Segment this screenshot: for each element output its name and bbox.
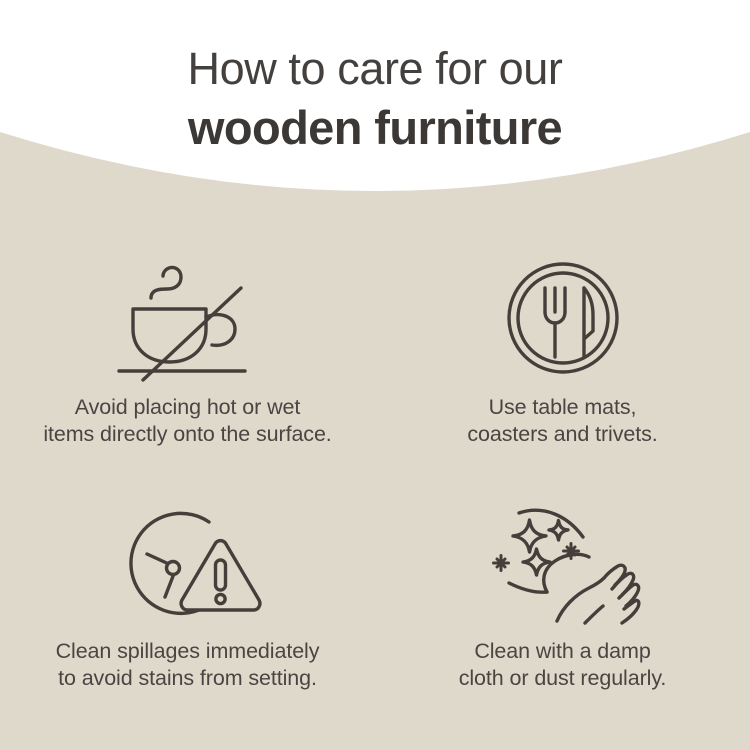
page-title-line-2: wooden furniture <box>0 98 750 158</box>
care-tip-item: Clean spillages immediately to avoid sta… <box>0 485 375 727</box>
page-title-line-1: How to care for our <box>0 40 750 98</box>
care-tips-grid: Avoid placing hot or wet items directly … <box>0 243 750 750</box>
care-tip-item: Clean with a damp cloth or dust regularl… <box>375 485 750 727</box>
hot-drink-cup-no-entry-icon <box>113 257 263 382</box>
hand-cloth-sparkle-icon <box>488 499 638 624</box>
care-tip-item: Avoid placing hot or wet items directly … <box>0 243 375 485</box>
page-title: How to care for our wooden furniture <box>0 0 750 158</box>
care-tip-text: Avoid placing hot or wet items directly … <box>3 394 373 448</box>
care-tip-text: Clean with a damp cloth or dust regularl… <box>378 638 748 692</box>
care-instructions-poster: How to care for our wooden furniture <box>0 0 750 750</box>
plate-fork-knife-icon <box>488 257 638 382</box>
clock-warning-triangle-icon <box>113 499 263 624</box>
care-tip-text: Use table mats, coasters and trivets. <box>378 394 748 448</box>
care-tip-text: Clean spillages immediately to avoid sta… <box>3 638 373 692</box>
care-tip-item: Use table mats, coasters and trivets. <box>375 243 750 485</box>
